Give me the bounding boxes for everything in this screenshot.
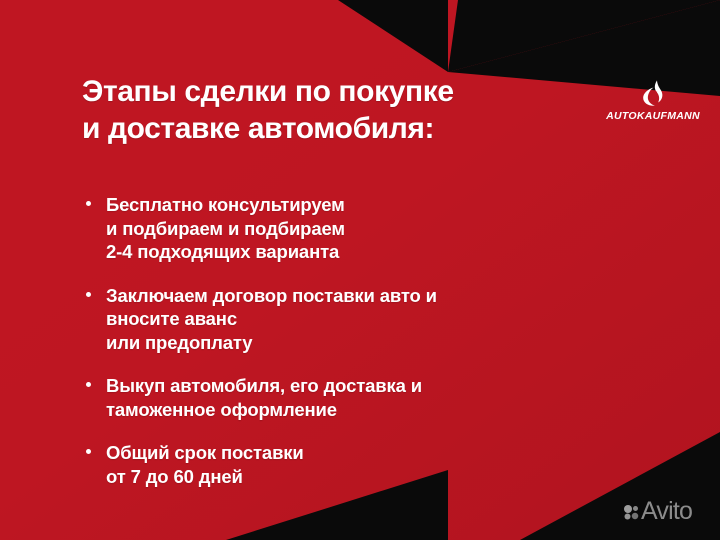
list-item-line: Бесплатно консультируем (106, 193, 644, 217)
list-item-line: 2-4 подходящих варианта (106, 240, 644, 264)
list-item-line: Общий срок поставки (106, 441, 644, 465)
avito-wordmark: Avito (641, 499, 692, 524)
poster-canvas: Этапы сделки по покупке и доставке автом… (0, 0, 720, 540)
title-line-2: и доставке автомобиля: (82, 110, 622, 147)
list-item-line: таможенное оформление (106, 398, 644, 422)
page-title: Этапы сделки по покупке и доставке автом… (82, 73, 622, 147)
title-line-1: Этапы сделки по покупке (82, 73, 622, 110)
list-item: Выкуп автомобиля, его доставка и таможен… (84, 374, 644, 421)
list-item: Заключаем договор поставки авто и вносит… (84, 284, 644, 355)
avito-watermark: Avito (623, 499, 692, 524)
list-item-line: и подбираем и подбираем (106, 217, 644, 241)
bullet-dot-icon (86, 382, 91, 387)
brand-logo: AUTOKAUFMANN (601, 79, 705, 122)
flame-swoosh-icon (638, 79, 668, 109)
steps-list: Бесплатно консультируем и подбираем и по… (84, 193, 644, 488)
list-item: Бесплатно консультируем и подбираем и по… (84, 193, 644, 264)
list-item-line: Выкуп автомобиля, его доставка и (106, 374, 644, 398)
bullet-dot-icon (86, 292, 91, 297)
logo-wordmark: AUTOKAUFMANN (601, 110, 705, 122)
bullet-dot-icon (86, 201, 91, 206)
list-item-line: Заключаем договор поставки авто и (106, 284, 644, 308)
list-item-line: от 7 до 60 дней (106, 465, 644, 489)
list-item-line: или предоплату (106, 331, 644, 355)
avito-dots-icon (623, 504, 639, 520)
list-item-line: вносите аванс (106, 307, 644, 331)
bullet-dot-icon (86, 449, 91, 454)
list-item: Общий срок поставки от 7 до 60 дней (84, 441, 644, 488)
